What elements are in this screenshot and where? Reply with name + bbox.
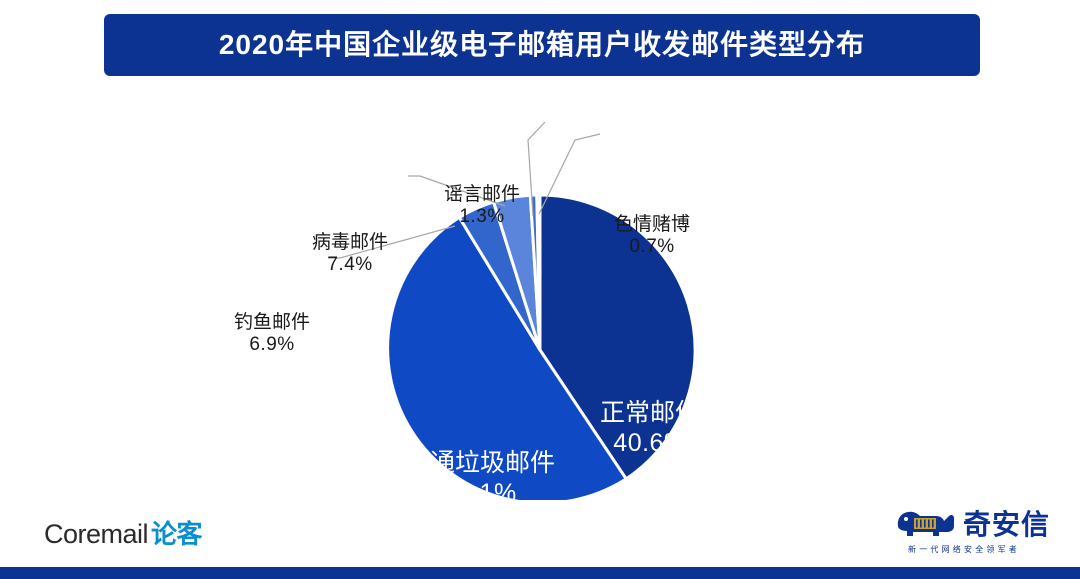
bottom-accent-bar xyxy=(0,567,1080,579)
inlabel-spam-value: 43.1% xyxy=(368,478,592,508)
qianxin-wordmark: 奇安信 xyxy=(963,503,1050,543)
callout-porn-label: 色情赌博 xyxy=(586,214,718,236)
callout-phishing-label: 钓鱼邮件 xyxy=(210,312,334,334)
slice-callout-phishing: 钓鱼邮件 6.9% xyxy=(210,312,334,357)
slide-title-bar: 2020年中国企业级电子邮箱用户收发邮件类型分布 xyxy=(104,14,980,76)
coremail-logo: Coremail 论客 xyxy=(44,514,202,551)
qianxin-logo: 奇安信 新一代网络安全领军者 xyxy=(870,505,1050,561)
coremail-wordmark: Coremail xyxy=(44,519,148,550)
callout-rumor-label: 谣言邮件 xyxy=(416,184,548,206)
callout-phishing-value: 6.9% xyxy=(210,334,334,356)
slice-callout-porn-gambling: 色情赌博 0.7% xyxy=(586,214,718,259)
slice-label-spam-mail: 普通垃圾邮件 43.1% xyxy=(368,448,592,508)
inlabel-spam-label: 普通垃圾邮件 xyxy=(368,448,592,478)
callout-porn-value: 0.7% xyxy=(586,236,718,258)
coremail-chinese-name: 论客 xyxy=(151,514,202,551)
qianxin-tagline: 新一代网络安全领军者 xyxy=(870,544,1050,555)
qianxin-tiger-icon xyxy=(895,506,959,540)
pie-chart-svg xyxy=(0,80,1080,500)
qianxin-logo-row: 奇安信 xyxy=(870,505,1050,541)
slide-canvas: 2020年中国企业级电子邮箱用户收发邮件类型分布 谣言邮件 xyxy=(0,0,1080,579)
callout-rumor-value: 1.3% xyxy=(416,206,548,228)
page-title: 2020年中国企业级电子邮箱用户收发邮件类型分布 xyxy=(219,31,865,59)
pie-chart: 谣言邮件 1.3% 色情赌博 0.7% 病毒邮件 7.4% 钓鱼邮件 6.9% … xyxy=(0,80,1080,500)
callout-virus-value: 7.4% xyxy=(288,254,412,276)
slice-callout-virus: 病毒邮件 7.4% xyxy=(288,232,412,277)
inlabel-normal-label: 正常邮件 xyxy=(560,398,740,428)
slice-callout-rumor: 谣言邮件 1.3% xyxy=(416,184,548,229)
callout-virus-label: 病毒邮件 xyxy=(288,232,412,254)
